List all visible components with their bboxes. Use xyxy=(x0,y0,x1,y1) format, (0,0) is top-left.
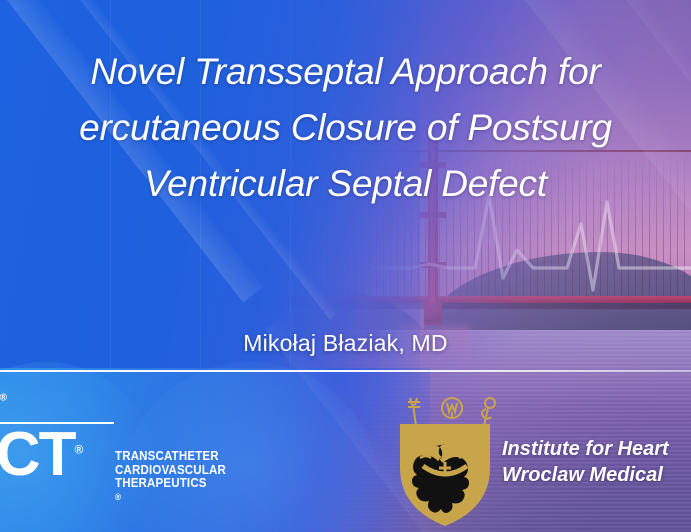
registered-icon: ® xyxy=(75,442,84,456)
title-line-2: ercutaneous Closure of Postsurg xyxy=(0,100,691,156)
registered-icon: ® xyxy=(0,392,7,403)
tct-wordmark: TCT® xyxy=(0,424,83,486)
tct-tagline-line-3: THERAPEUTICS® xyxy=(115,477,226,504)
institution-line-2: Wroclaw Medical xyxy=(502,462,669,488)
institution-line-1: Institute for Heart xyxy=(502,436,669,462)
tct-tagline-line-2: CARDIOVASCULAR xyxy=(115,464,226,478)
tct-text: TCT xyxy=(0,420,75,489)
presenter-name: Mikołaj Błaziak, MD xyxy=(0,330,691,357)
crf-wordmark: RF® xyxy=(0,388,7,414)
slide-title: Novel Transseptal Approach for ercutaneo… xyxy=(0,44,691,212)
tct-tagline-line-3-text: THERAPEUTICS xyxy=(115,477,226,491)
title-line-3: Ventricular Septal Defect xyxy=(0,156,691,212)
presentation-title-slide: Novel Transseptal Approach for ercutaneo… xyxy=(0,0,691,532)
registered-icon: ® xyxy=(115,491,226,505)
tct-logo: RF® TCT® TRANSCATHETER CARDIOVASCULAR TH… xyxy=(0,388,286,518)
institution-logo: Institute for Heart Wroclaw Medical xyxy=(396,396,691,532)
institution-name: Institute for Heart Wroclaw Medical xyxy=(502,436,669,488)
tct-tagline: TRANSCATHETER CARDIOVASCULAR THERAPEUTIC… xyxy=(115,450,226,504)
horizontal-divider xyxy=(0,370,691,372)
wroclaw-shield-icon xyxy=(396,422,494,528)
title-line-1: Novel Transseptal Approach for xyxy=(0,44,691,100)
tct-tagline-line-1: TRANSCATHETER xyxy=(115,450,226,464)
